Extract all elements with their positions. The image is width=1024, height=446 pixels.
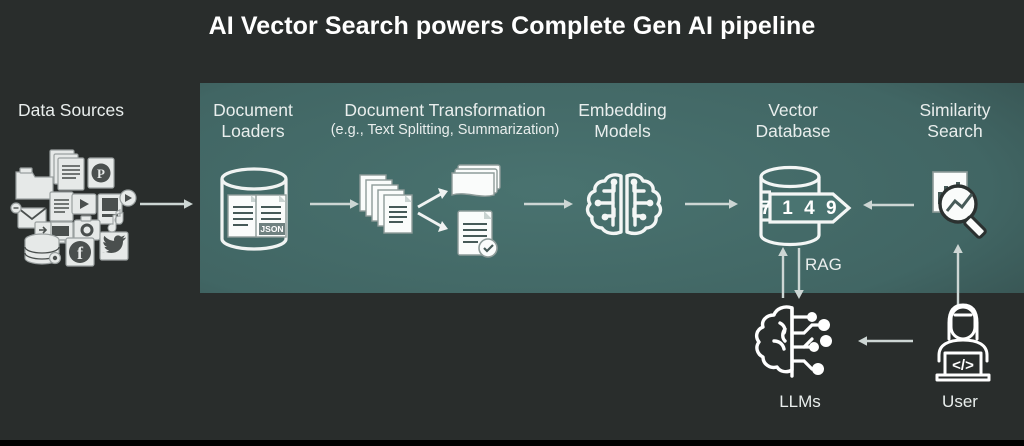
document-verified-icon: [458, 211, 497, 257]
connector-rag-arrows: [775, 248, 811, 298]
diagram-canvas: AI Vector Search powers Complete Gen AI …: [0, 0, 1024, 446]
svg-text:P: P: [97, 166, 105, 181]
connector-similarity-to-vectordb: [860, 197, 916, 213]
connector-user-to-similarity: [948, 243, 968, 308]
twitter-icon: [100, 232, 128, 260]
document-plain-icon: [228, 195, 258, 237]
connector-user-to-llms: [855, 333, 915, 349]
connector-loaders-to-transformation: [310, 196, 362, 212]
video-play-icon: [72, 194, 96, 214]
stage-label-embedding-models-line1: Embedding: [578, 100, 667, 120]
page-title: AI Vector Search powers Complete Gen AI …: [0, 12, 1024, 41]
svg-text:f: f: [77, 243, 84, 263]
document-stack-source-icon: [360, 175, 412, 233]
stage-label-similarity-search-line1: Similarity: [920, 100, 991, 120]
user-laptop-icon: </>: [925, 303, 1001, 385]
card-stack-icon: [452, 165, 500, 196]
stage-label-vector-database-line2: Database: [756, 121, 831, 141]
rag-label: RAG: [805, 255, 875, 275]
magnifier-icon: [940, 186, 986, 238]
stage-label-document-transformation-line1: Document Transformation: [344, 100, 545, 120]
stage-label-similarity-search: Similarity Search: [898, 100, 1012, 142]
video-circle-icon: [120, 190, 136, 206]
code-glyph-text: </>: [952, 357, 974, 374]
stage-label-llms: LLMs: [740, 392, 860, 412]
folder-icon: [16, 168, 53, 199]
stage-label-similarity-search-line2: Search: [927, 121, 982, 141]
stage-label-document-transformation: Document Transformation (e.g., Text Spli…: [330, 100, 560, 139]
vector-digits-text: 7 1 4 9: [760, 198, 839, 219]
data-sources-cluster-icon: P: [10, 140, 140, 265]
camera-icon: [74, 216, 100, 240]
split-arrows-icon: [418, 188, 448, 232]
bottom-strip: [0, 440, 1024, 446]
document-icon: [50, 192, 73, 221]
magnifier-chart-icon: [925, 168, 1001, 244]
vector-banner-icon: 7 1 4 9: [760, 194, 849, 222]
vector-database-icon: 7 1 4 9: [748, 164, 858, 256]
json-badge-text: JSON: [260, 224, 283, 234]
database-icon: [25, 234, 61, 264]
stage-label-data-sources: Data Sources: [0, 100, 142, 121]
stage-label-embedding-models-line2: Models: [594, 121, 650, 141]
facebook-icon: f: [66, 238, 94, 266]
stage-label-embedding-models: Embedding Models: [560, 100, 685, 142]
document-split-icon: [358, 163, 513, 259]
pinterest-icon: P: [88, 158, 114, 188]
stage-label-user: User: [905, 392, 1015, 412]
connector-embedding-to-vectordb: [685, 196, 741, 212]
connector-transformation-to-embedding: [524, 196, 576, 212]
stage-label-document-transformation-sub: (e.g., Text Splitting, Summarization): [330, 121, 560, 139]
stage-label-document-loaders-line2: Loaders: [221, 121, 284, 141]
stage-label-document-loaders: Document Loaders: [193, 100, 313, 142]
stage-label-document-loaders-line1: Document: [213, 100, 293, 120]
connector-sources-to-loaders: [140, 196, 196, 212]
database-documents-icon: JSON: [208, 165, 300, 257]
brain-network-icon: [752, 303, 848, 383]
stage-label-vector-database: Vector Database: [733, 100, 853, 142]
stage-label-vector-database-line1: Vector: [768, 100, 818, 120]
circuit-brain-icon: [582, 170, 666, 246]
document-json-icon: JSON: [256, 195, 286, 237]
documents-stack-icon: [50, 150, 84, 190]
